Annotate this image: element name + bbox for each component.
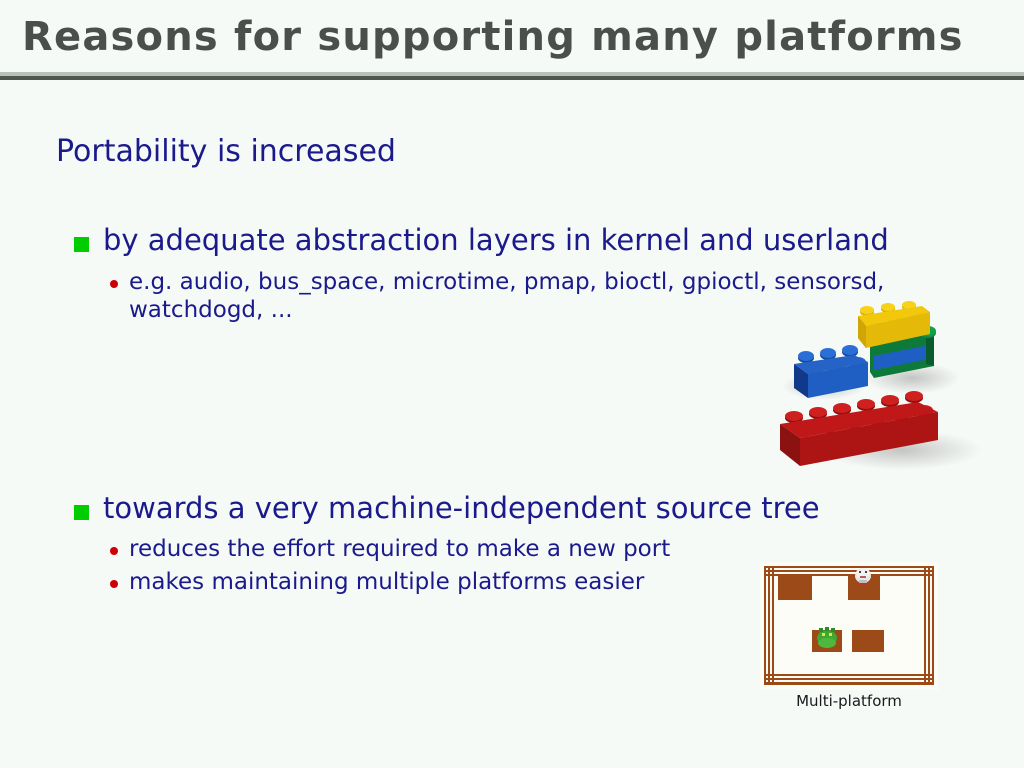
game-border-bottom (764, 674, 934, 685)
sub-bullet-item-2-1: reduces the effort required to make a ne… (110, 535, 670, 563)
sub-bullet-label-2-1: reduces the effort required to make a ne… (129, 535, 670, 563)
platformer-game-illustration (760, 562, 938, 690)
platform-mid-right (852, 630, 884, 652)
body-heading: Portability is increased (56, 134, 396, 169)
game-border-right (924, 566, 934, 685)
bullet-label-2: towards a very machine-independent sourc… (103, 492, 820, 524)
dot-bullet-icon (110, 547, 118, 555)
page-title: Reasons for supporting many platforms (22, 14, 964, 60)
dot-bullet-icon (110, 580, 118, 588)
slide-title-area: Reasons for supporting many platforms (0, 0, 1024, 72)
square-bullet-icon (74, 237, 89, 252)
title-divider (0, 72, 1024, 80)
square-bullet-icon (74, 505, 89, 520)
lego-bricks-photo (762, 300, 1024, 480)
figure-caption: Multi-platform (760, 692, 938, 710)
enemy-sprite (817, 627, 837, 648)
game-border-top (764, 566, 934, 576)
sub-bullet-item-2-2: makes maintaining multiple platforms eas… (110, 568, 644, 596)
platform-top-left (778, 576, 812, 600)
multi-platform-figure: Multi-platform (760, 562, 940, 722)
game-screenshot (760, 562, 938, 690)
bullet-label-1: by adequate abstraction layers in kernel… (103, 224, 889, 256)
presentation-slide: Reasons for supporting many platforms Po… (0, 0, 1024, 768)
bullet-item-1: by adequate abstraction layers in kernel… (74, 224, 889, 256)
game-border-left (764, 566, 774, 685)
lego-bricks-illustration (762, 300, 1024, 480)
divider-dark-line (0, 76, 1024, 80)
dot-bullet-icon (110, 280, 118, 288)
bullet-item-2: towards a very machine-independent sourc… (74, 492, 820, 524)
sub-bullet-label-2-2: makes maintaining multiple platforms eas… (129, 568, 644, 596)
